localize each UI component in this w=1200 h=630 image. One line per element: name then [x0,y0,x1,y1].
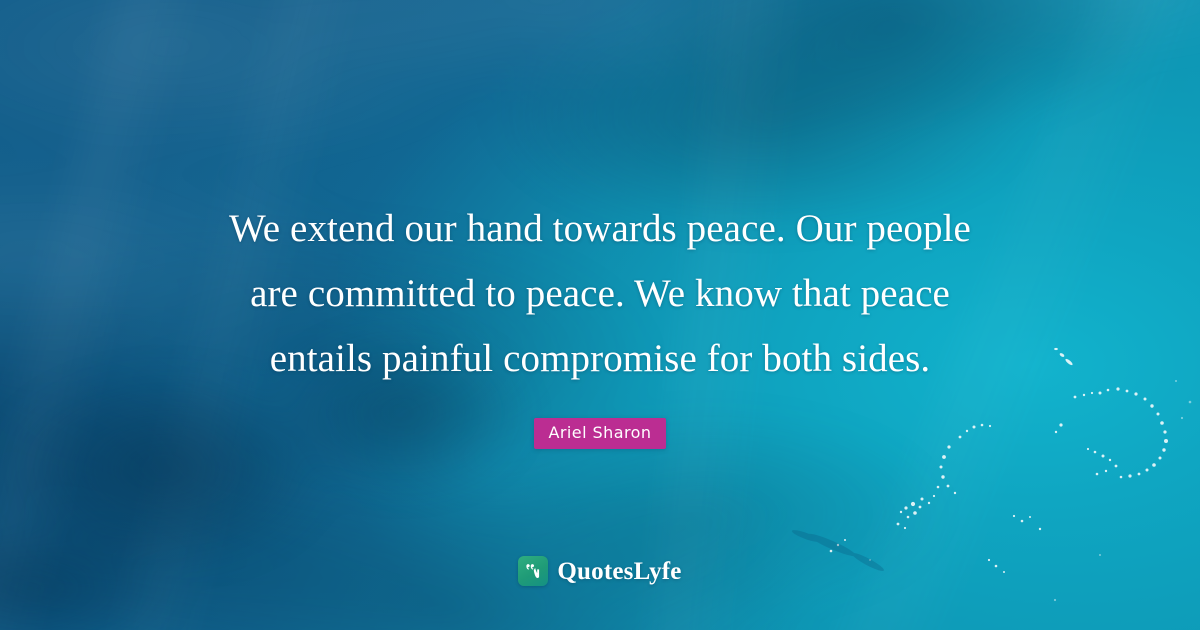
author-badge[interactable]: Ariel Sharon [534,418,665,449]
brand-name: QuotesLyfe [557,559,681,584]
quote-line-2: are committed to peace. We know that pea… [96,261,1104,326]
author-row: Ariel Sharon [0,418,1200,449]
quote-line-1: We extend our hand towards peace. Our pe… [96,196,1104,261]
quote-mark-icon [518,556,548,586]
quote-line-3: entails painful compromise for both side… [96,326,1104,391]
brand-logo[interactable]: QuotesLyfe [0,556,1200,586]
quote-text: We extend our hand towards peace. Our pe… [0,196,1200,391]
quote-card: We extend our hand towards peace. Our pe… [0,0,1200,630]
